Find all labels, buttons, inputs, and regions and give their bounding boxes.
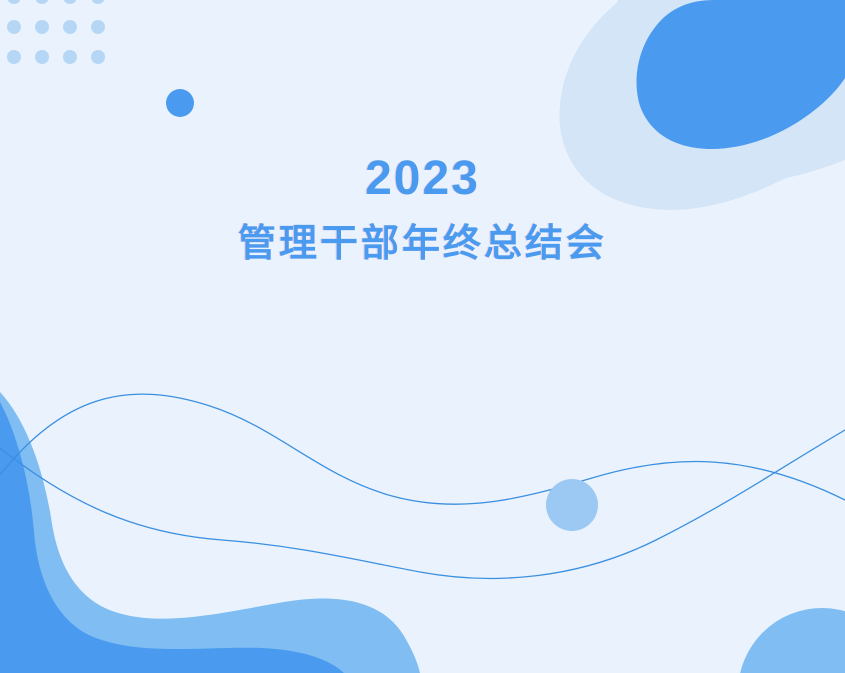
accent-dot-center	[546, 479, 598, 531]
accent-dot-top-left	[166, 89, 194, 117]
grid-dot	[7, 50, 21, 64]
grid-dot	[35, 0, 49, 4]
grid-dot	[35, 50, 49, 64]
grid-dot	[7, 20, 21, 34]
grid-dot	[91, 0, 105, 4]
grid-dot	[91, 50, 105, 64]
page-title-year: 2023	[0, 152, 845, 206]
decorative-background-art	[0, 0, 845, 673]
corner-circle-bottom-right	[738, 608, 845, 673]
page-subtitle: 管理干部年终总结会	[0, 222, 845, 267]
grid-dot	[63, 20, 77, 34]
flow-line-upper	[0, 394, 845, 504]
grid-dot	[7, 0, 21, 4]
bottom-left-mid-wave	[0, 392, 420, 673]
grid-dot	[63, 0, 77, 4]
dot-grid	[7, 0, 105, 64]
grid-dot	[91, 20, 105, 34]
grid-dot	[35, 20, 49, 34]
grid-dot	[63, 50, 77, 64]
top-right-accent-blob	[637, 0, 845, 149]
title-block: 2023 管理干部年终总结会	[0, 152, 845, 267]
presentation-slide: 2023 管理干部年终总结会	[0, 0, 845, 673]
flow-line-lower	[0, 430, 845, 578]
bottom-left-accent-wave	[0, 402, 344, 673]
